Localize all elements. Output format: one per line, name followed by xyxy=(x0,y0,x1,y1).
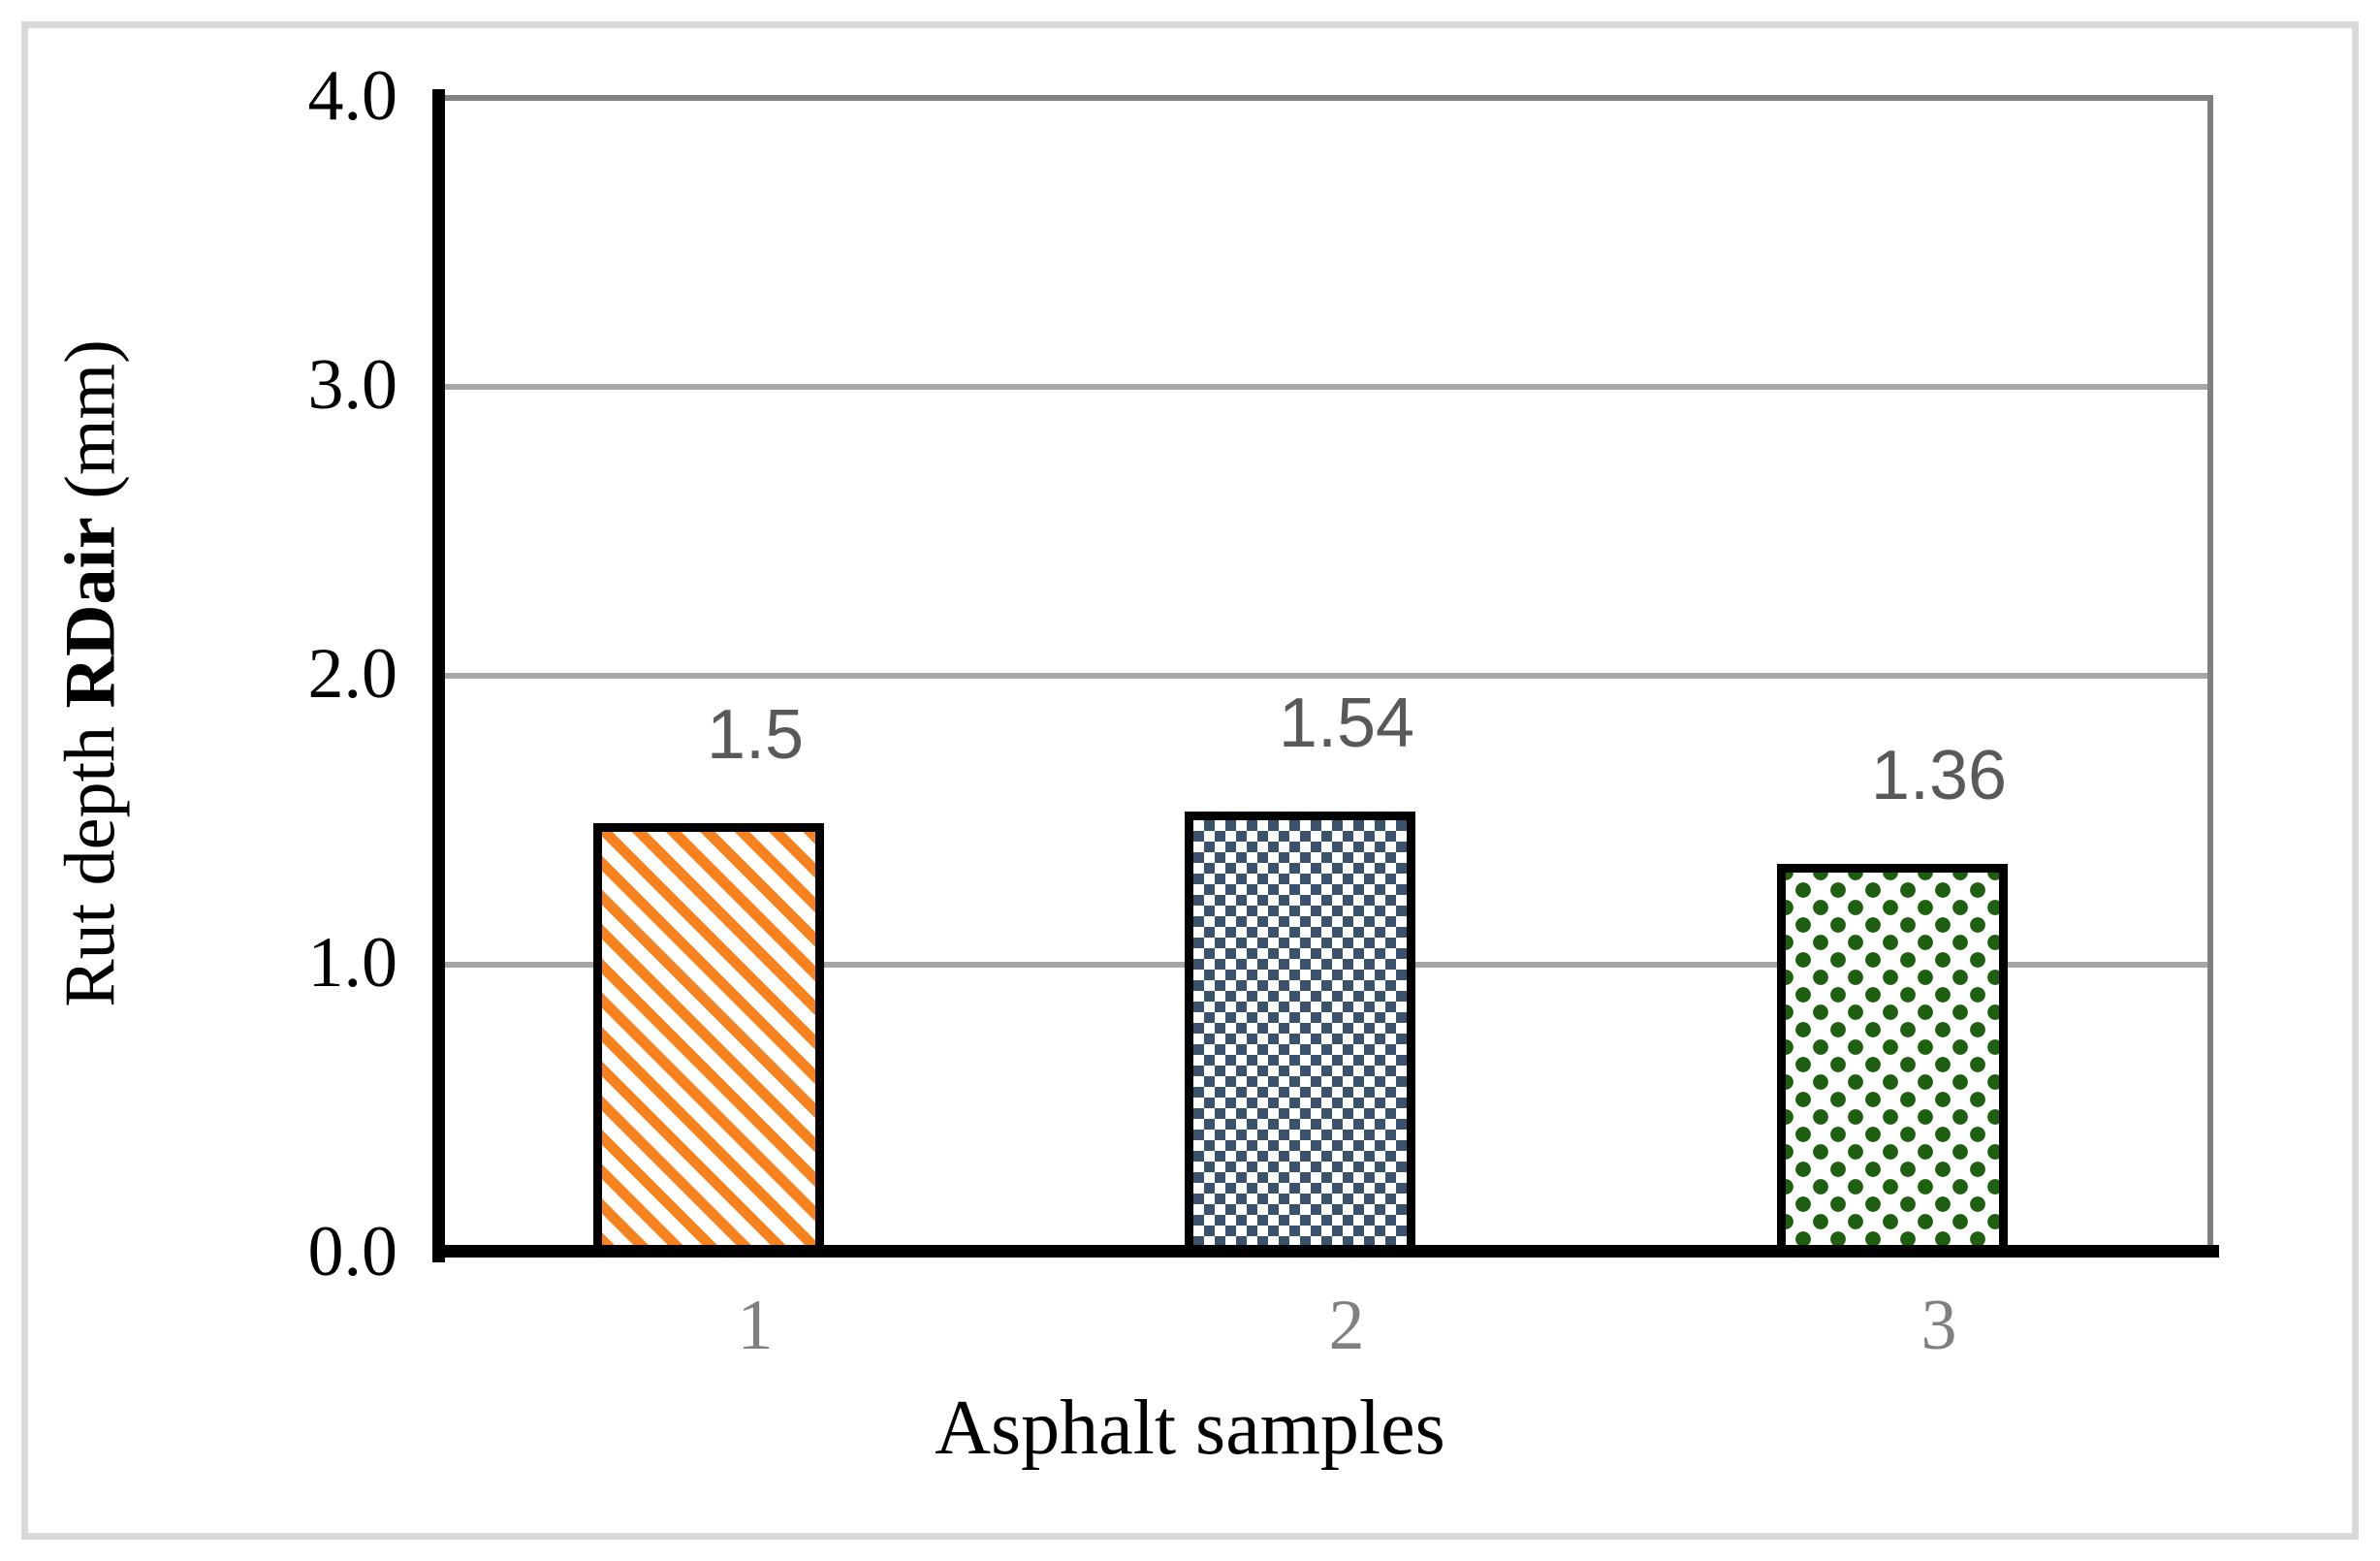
x-tick-label-1: 1 xyxy=(477,1290,1033,1361)
y-axis-title-plain: Rut depth xyxy=(51,708,131,1006)
data-label-sample-1: 1.5 xyxy=(477,700,1033,770)
bar-sample-1[interactable] xyxy=(593,823,824,1257)
bar-sample-2[interactable] xyxy=(1185,812,1415,1257)
data-label-sample-2: 1.54 xyxy=(1068,688,1625,758)
gridline-3 xyxy=(438,384,2207,390)
data-label-sample-3: 1.36 xyxy=(1661,741,2217,811)
x-tick-label-3: 3 xyxy=(1661,1290,2217,1361)
x-axis-title: Asphalt samples xyxy=(0,1385,2380,1473)
y-tick-label-3: 3.0 xyxy=(165,349,397,421)
figure-container: 4.0 3.0 2.0 1.0 0.0 Rut depth RDair (mm)… xyxy=(0,0,2380,1561)
gridline-2 xyxy=(438,673,2207,679)
y-axis-title-bold: RDair xyxy=(51,517,131,708)
bar-chart: 4.0 3.0 2.0 1.0 0.0 Rut depth RDair (mm)… xyxy=(0,0,2380,1561)
x-tick-label-2: 2 xyxy=(1068,1290,1625,1361)
x-axis-line xyxy=(432,1245,2219,1258)
plot-area xyxy=(438,95,2213,1251)
y-axis-title-unit: (mm) xyxy=(51,339,131,517)
bar-sample-3[interactable] xyxy=(1777,864,2008,1257)
y-tick-label-0: 0.0 xyxy=(165,1216,397,1288)
y-axis-line xyxy=(432,89,445,1262)
y-tick-label-4: 4.0 xyxy=(165,60,397,132)
y-tick-label-2: 2.0 xyxy=(165,638,397,710)
y-tick-label-1: 1.0 xyxy=(165,927,397,999)
y-axis-title: Rut depth RDair (mm) xyxy=(50,92,133,1256)
